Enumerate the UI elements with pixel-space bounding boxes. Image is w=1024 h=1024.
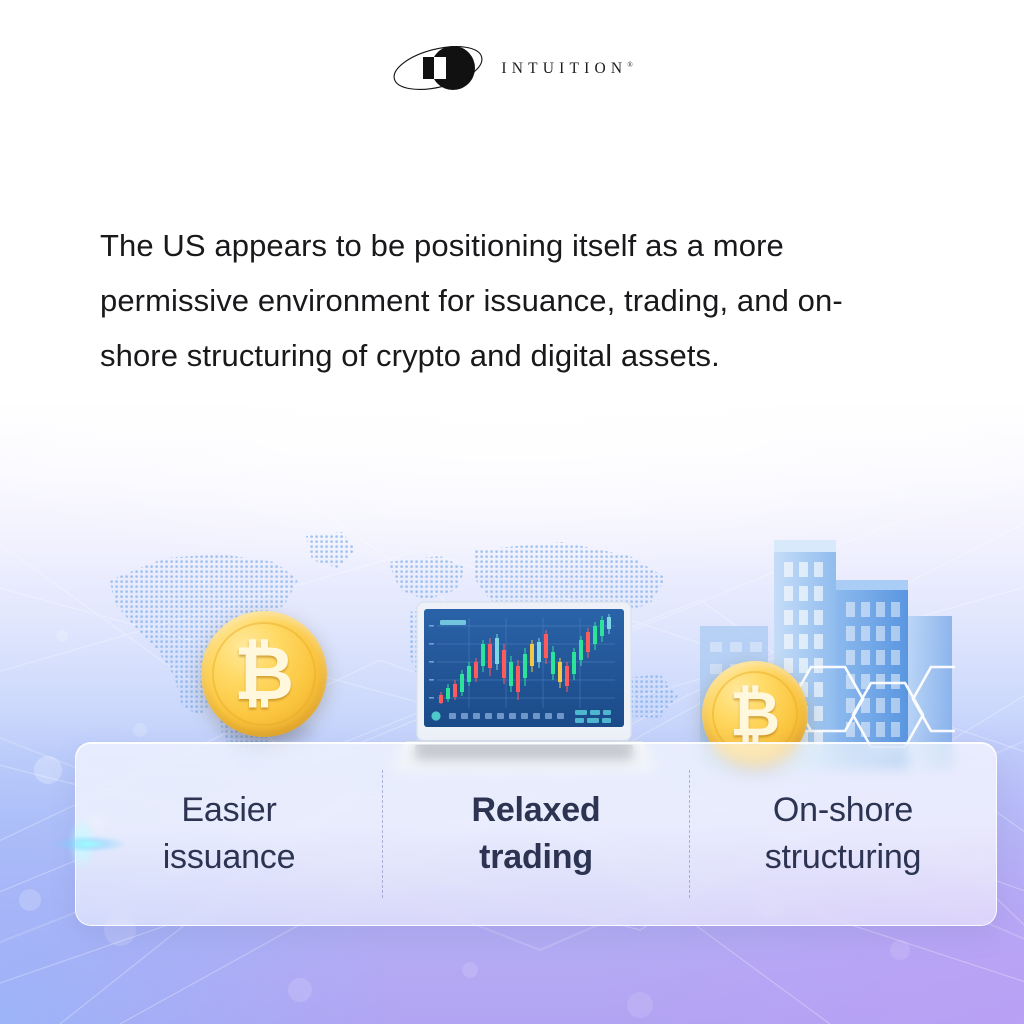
bitcoin-symbol: ₿: [730, 683, 781, 745]
cell-line-1: Relaxed: [471, 787, 600, 834]
cell-line-2: issuance: [163, 834, 296, 881]
cell-line-2: trading: [479, 834, 593, 881]
headline-text: The US appears to be positioning itself …: [100, 218, 890, 383]
benefits-card: Easier issuance Relaxed trading On-shore…: [75, 742, 997, 926]
poster-canvas: INTUITION® The US appears to be position…: [0, 0, 1024, 1024]
wordmark-text: INTUITION: [501, 60, 627, 77]
bitcoin-symbol: ₿: [234, 637, 294, 711]
card-cell-relaxed-trading[interactable]: Relaxed trading: [383, 743, 689, 925]
brand-logo: INTUITION®: [0, 38, 1024, 98]
card-cell-easier-issuance[interactable]: Easier issuance: [76, 743, 382, 925]
cell-line-1: On-shore: [773, 787, 913, 834]
wordmark: INTUITION®: [501, 60, 632, 78]
bitcoin-coin-left-icon: ₿: [201, 611, 327, 737]
card-cell-onshore-structuring[interactable]: On-shore structuring: [690, 743, 996, 925]
intuition-orbit-mark-icon: [391, 40, 491, 96]
coin-inner: ₿: [212, 622, 315, 725]
card-edge-glow: [52, 836, 126, 852]
cell-line-2: structuring: [765, 834, 922, 881]
trademark-symbol: ®: [627, 61, 632, 69]
logo-svg: [391, 40, 491, 96]
cell-line-1: Easier: [181, 787, 276, 834]
